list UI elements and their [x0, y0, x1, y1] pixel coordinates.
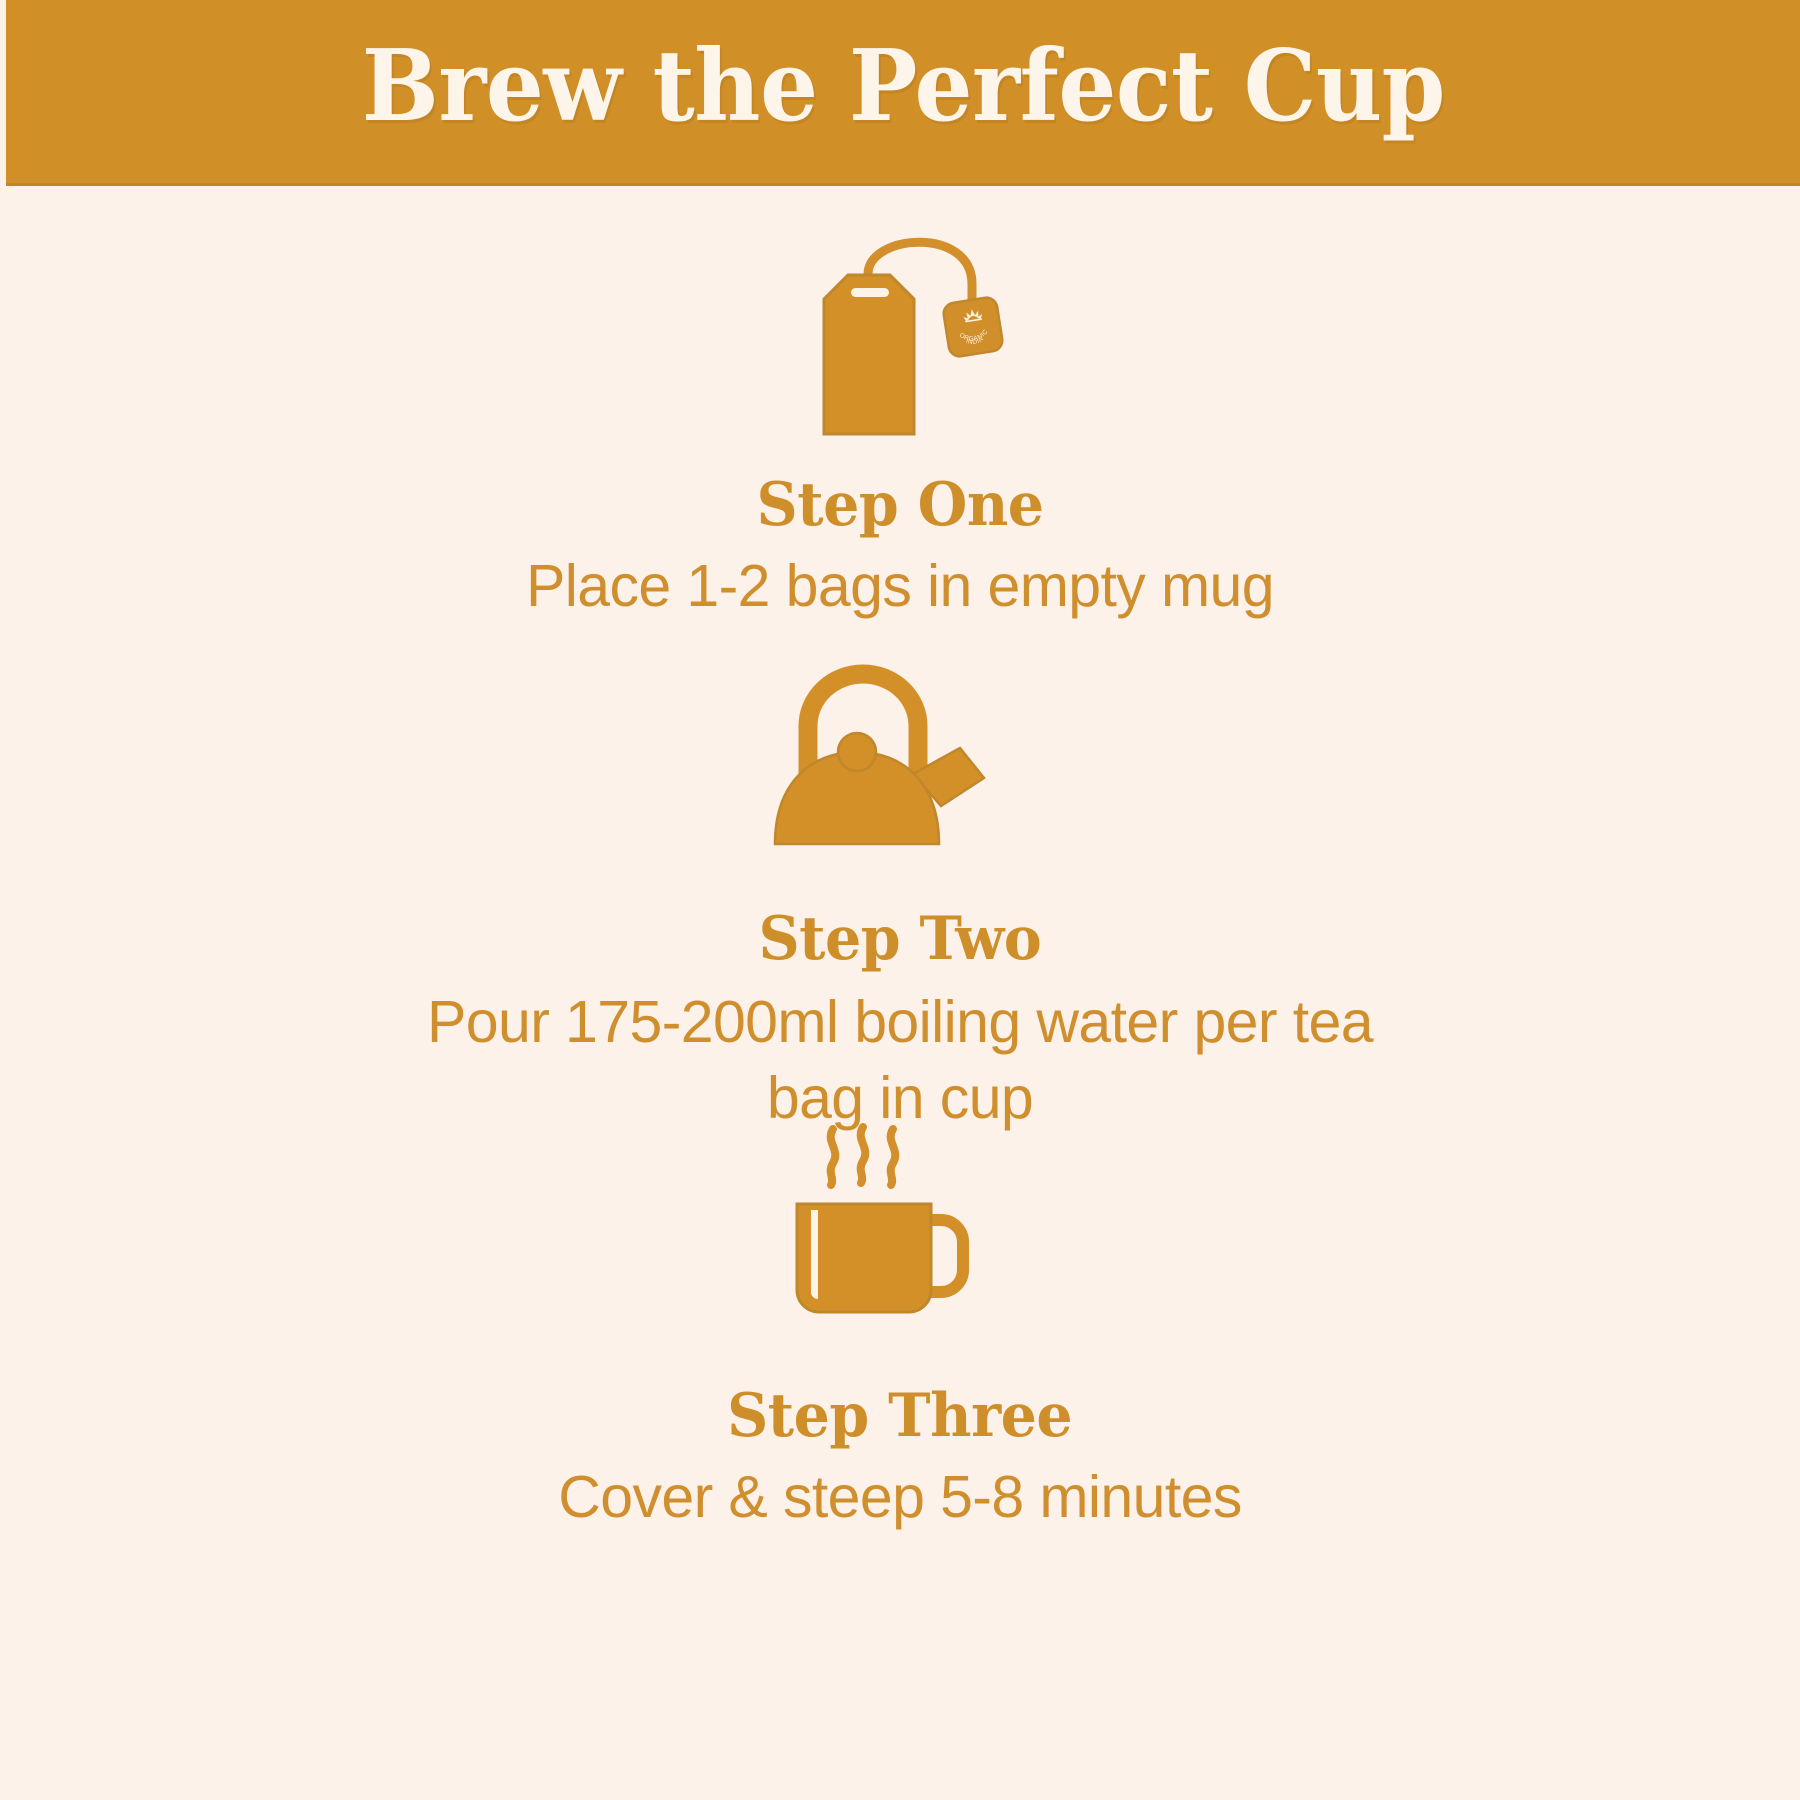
- step-one: ORGANIC INDIA Step One Place 1-2 bags in…: [0, 216, 1800, 625]
- kettle-icon-wrapper: [745, 656, 1055, 866]
- step-two-description: Pour 175-200ml boiling water per tea bag…: [400, 985, 1400, 1136]
- page-title: Brew the Perfect Cup: [361, 38, 1444, 146]
- header-bar: Brew the Perfect Cup: [6, 0, 1800, 186]
- steaming-mug-icon: [775, 1116, 1025, 1331]
- step-two-heading: Step Two: [759, 908, 1042, 971]
- kettle-knob: [838, 733, 876, 771]
- kettle-icon: [745, 656, 1055, 866]
- tea-bag-icon: ORGANIC INDIA: [750, 216, 1050, 446]
- step-three: Step Three Cover & steep 5-8 minutes: [0, 1116, 1800, 1536]
- steps-container: ORGANIC INDIA Step One Place 1-2 bags in…: [0, 186, 1800, 1800]
- mug-highlight: [811, 1210, 818, 1299]
- tea-bag-body: [824, 275, 914, 434]
- steam-lines: [831, 1127, 896, 1185]
- tea-bag-slot: [851, 288, 889, 297]
- step-three-heading: Step Three: [727, 1385, 1072, 1448]
- mug-icon-wrapper: [775, 1116, 1025, 1331]
- tea-bag-icon-wrapper: ORGANIC INDIA: [750, 216, 1050, 446]
- step-one-heading: Step One: [756, 474, 1043, 537]
- step-one-description: Place 1-2 bags in empty mug: [526, 549, 1274, 625]
- step-three-description: Cover & steep 5-8 minutes: [558, 1460, 1242, 1536]
- tea-bag-tag: ORGANIC INDIA: [942, 296, 1004, 358]
- step-two: Step Two Pour 175-200ml boiling water pe…: [0, 656, 1800, 1136]
